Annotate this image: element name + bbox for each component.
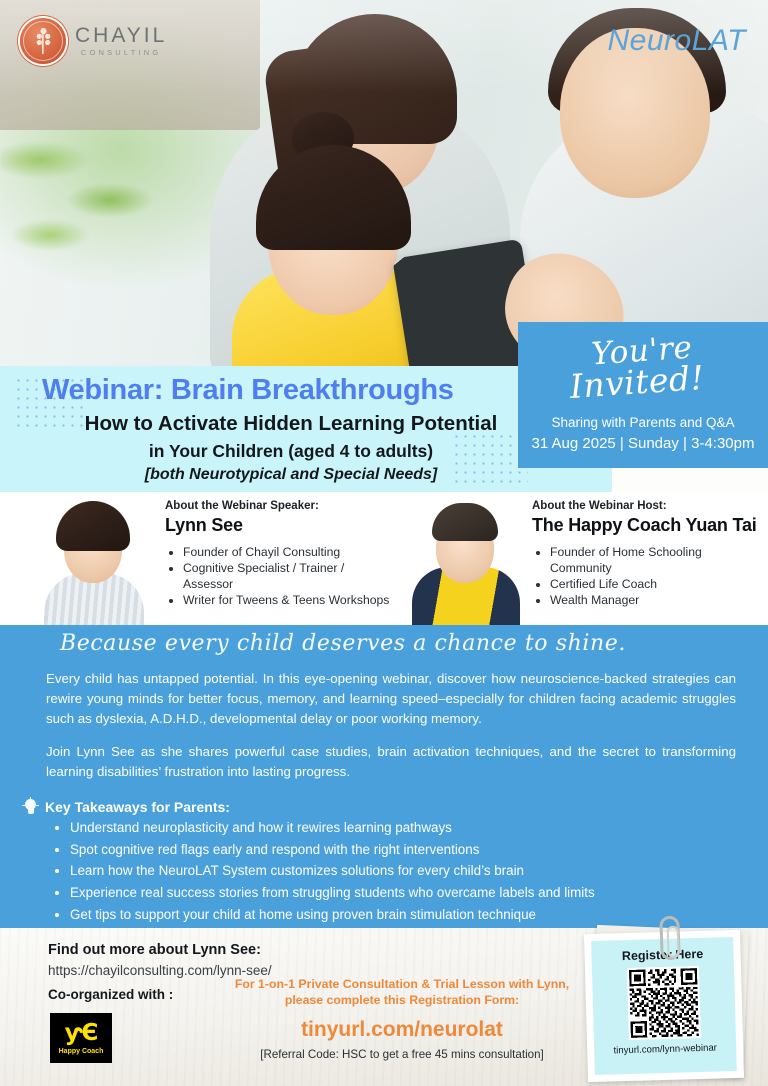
- register-url[interactable]: tinyurl.com/lynn-webinar: [613, 1043, 717, 1057]
- invite-detail-datetime: 31 Aug 2025 | Sunday | 3-4:30pm: [518, 435, 768, 452]
- promo-line-2: please complete this Registration Form:: [232, 992, 572, 1008]
- speaker-credentials: Founder of Chayil Consulting Cognitive S…: [165, 544, 395, 608]
- list-item: Experience real success stories from str…: [70, 882, 595, 904]
- list-item: Certified Life Coach: [550, 576, 766, 592]
- invite-detail-format: Sharing with Parents and Q&A: [518, 415, 768, 430]
- description-paragraph-1: Every child has untapped potential. In t…: [46, 669, 736, 730]
- speaker-about-label: About the Webinar Speaker:: [165, 500, 395, 512]
- list-item: Cognitive Specialist / Trainer / Assesso…: [183, 560, 395, 592]
- speaker-hair: [56, 501, 130, 551]
- list-item: Spot cognitive red flags early and respo…: [70, 839, 595, 861]
- speaker-photo: [34, 499, 152, 625]
- chayil-logo-text: CHAYIL CONSULTING: [75, 25, 167, 57]
- description-section: Because every child deserves a chance to…: [0, 625, 768, 928]
- invite-script-text: You're Invited!: [516, 327, 768, 407]
- speaker-info: About the Webinar Speaker: Lynn See Foun…: [165, 500, 395, 608]
- host-shirt-logo: [462, 591, 496, 621]
- host-name: The Happy Coach Yuan Tai: [532, 515, 766, 536]
- list-item: Understand neuroplasticity and how it re…: [70, 817, 595, 839]
- speaker-name: Lynn See: [165, 515, 395, 536]
- register-card[interactable]: Register Here: [586, 924, 752, 1080]
- qr-code-icon[interactable]: [627, 966, 701, 1040]
- referral-code-note: [Referral Code: HSC to get a free 45 min…: [232, 1048, 572, 1061]
- find-out-more-heading: Find out more about Lynn See:: [48, 942, 261, 958]
- people-section: About the Webinar Speaker: Lynn See Foun…: [0, 492, 768, 625]
- chayil-logo: CHAYIL CONSULTING: [20, 18, 167, 64]
- promo-line-1: For 1-on-1 Private Consultation & Trial …: [232, 976, 572, 992]
- list-item: Wealth Manager: [550, 592, 766, 608]
- brand-name: CHAYIL: [75, 25, 167, 46]
- host-info: About the Webinar Host: The Happy Coach …: [532, 500, 766, 608]
- neurolat-wordmark: NeuroLAT: [607, 24, 746, 58]
- takeaways-heading-text: Key Takeaways for Parents:: [45, 799, 230, 815]
- happy-coach-logo: ƴЄ Happy Coach: [50, 1013, 112, 1063]
- takeaways-heading: Key Takeaways for Parents:: [22, 797, 230, 817]
- brand-subtitle: CONSULTING: [75, 49, 167, 57]
- host-hair: [432, 503, 498, 541]
- list-item: Founder of Chayil Consulting: [183, 544, 395, 560]
- host-photo: [406, 499, 524, 625]
- coorganized-label: Co-organized with :: [48, 987, 173, 1002]
- webinar-poster: CHAYIL CONSULTING NeuroLAT Webinar: Brai…: [0, 0, 768, 1086]
- speaker-card: About the Webinar Speaker: Lynn See Foun…: [0, 492, 400, 625]
- page-title: Webinar: Brain Breakthroughs: [42, 374, 454, 407]
- lightbulb-icon: [22, 797, 39, 817]
- list-item: Get tips to support your child at home u…: [70, 904, 595, 926]
- host-card: About the Webinar Host: The Happy Coach …: [400, 492, 768, 625]
- takeaways-list: Understand neuroplasticity and how it re…: [52, 817, 595, 926]
- list-item: Learn how the NeuroLAT System customizes…: [70, 860, 595, 882]
- tagline-script: Because every child deserves a chance to…: [60, 631, 626, 656]
- invite-script-line2: Invited!: [504, 358, 768, 409]
- invitation-box: You're Invited! Sharing with Parents and…: [518, 322, 768, 468]
- list-item: Founder of Home Schooling Community: [550, 544, 766, 576]
- description-paragraph-2: Join Lynn See as she shares powerful cas…: [46, 742, 736, 782]
- happy-coach-mark: ƴЄ: [65, 1022, 98, 1045]
- registration-promo: For 1-on-1 Private Consultation & Trial …: [232, 976, 572, 1061]
- host-about-label: About the Webinar Host:: [532, 500, 766, 512]
- logo-ring: [23, 21, 63, 61]
- list-item: Writer for Tweens & Teens Workshops: [183, 592, 395, 608]
- registration-url[interactable]: tinyurl.com/neurolat: [232, 1018, 572, 1042]
- wheat-circle-icon: [20, 18, 66, 64]
- paperclip-icon: [659, 916, 681, 961]
- host-credentials: Founder of Home Schooling Community Cert…: [532, 544, 766, 608]
- happy-coach-name: Happy Coach: [59, 1048, 104, 1055]
- title-subline-3: [both Neurotypical and Special Needs]: [0, 466, 612, 484]
